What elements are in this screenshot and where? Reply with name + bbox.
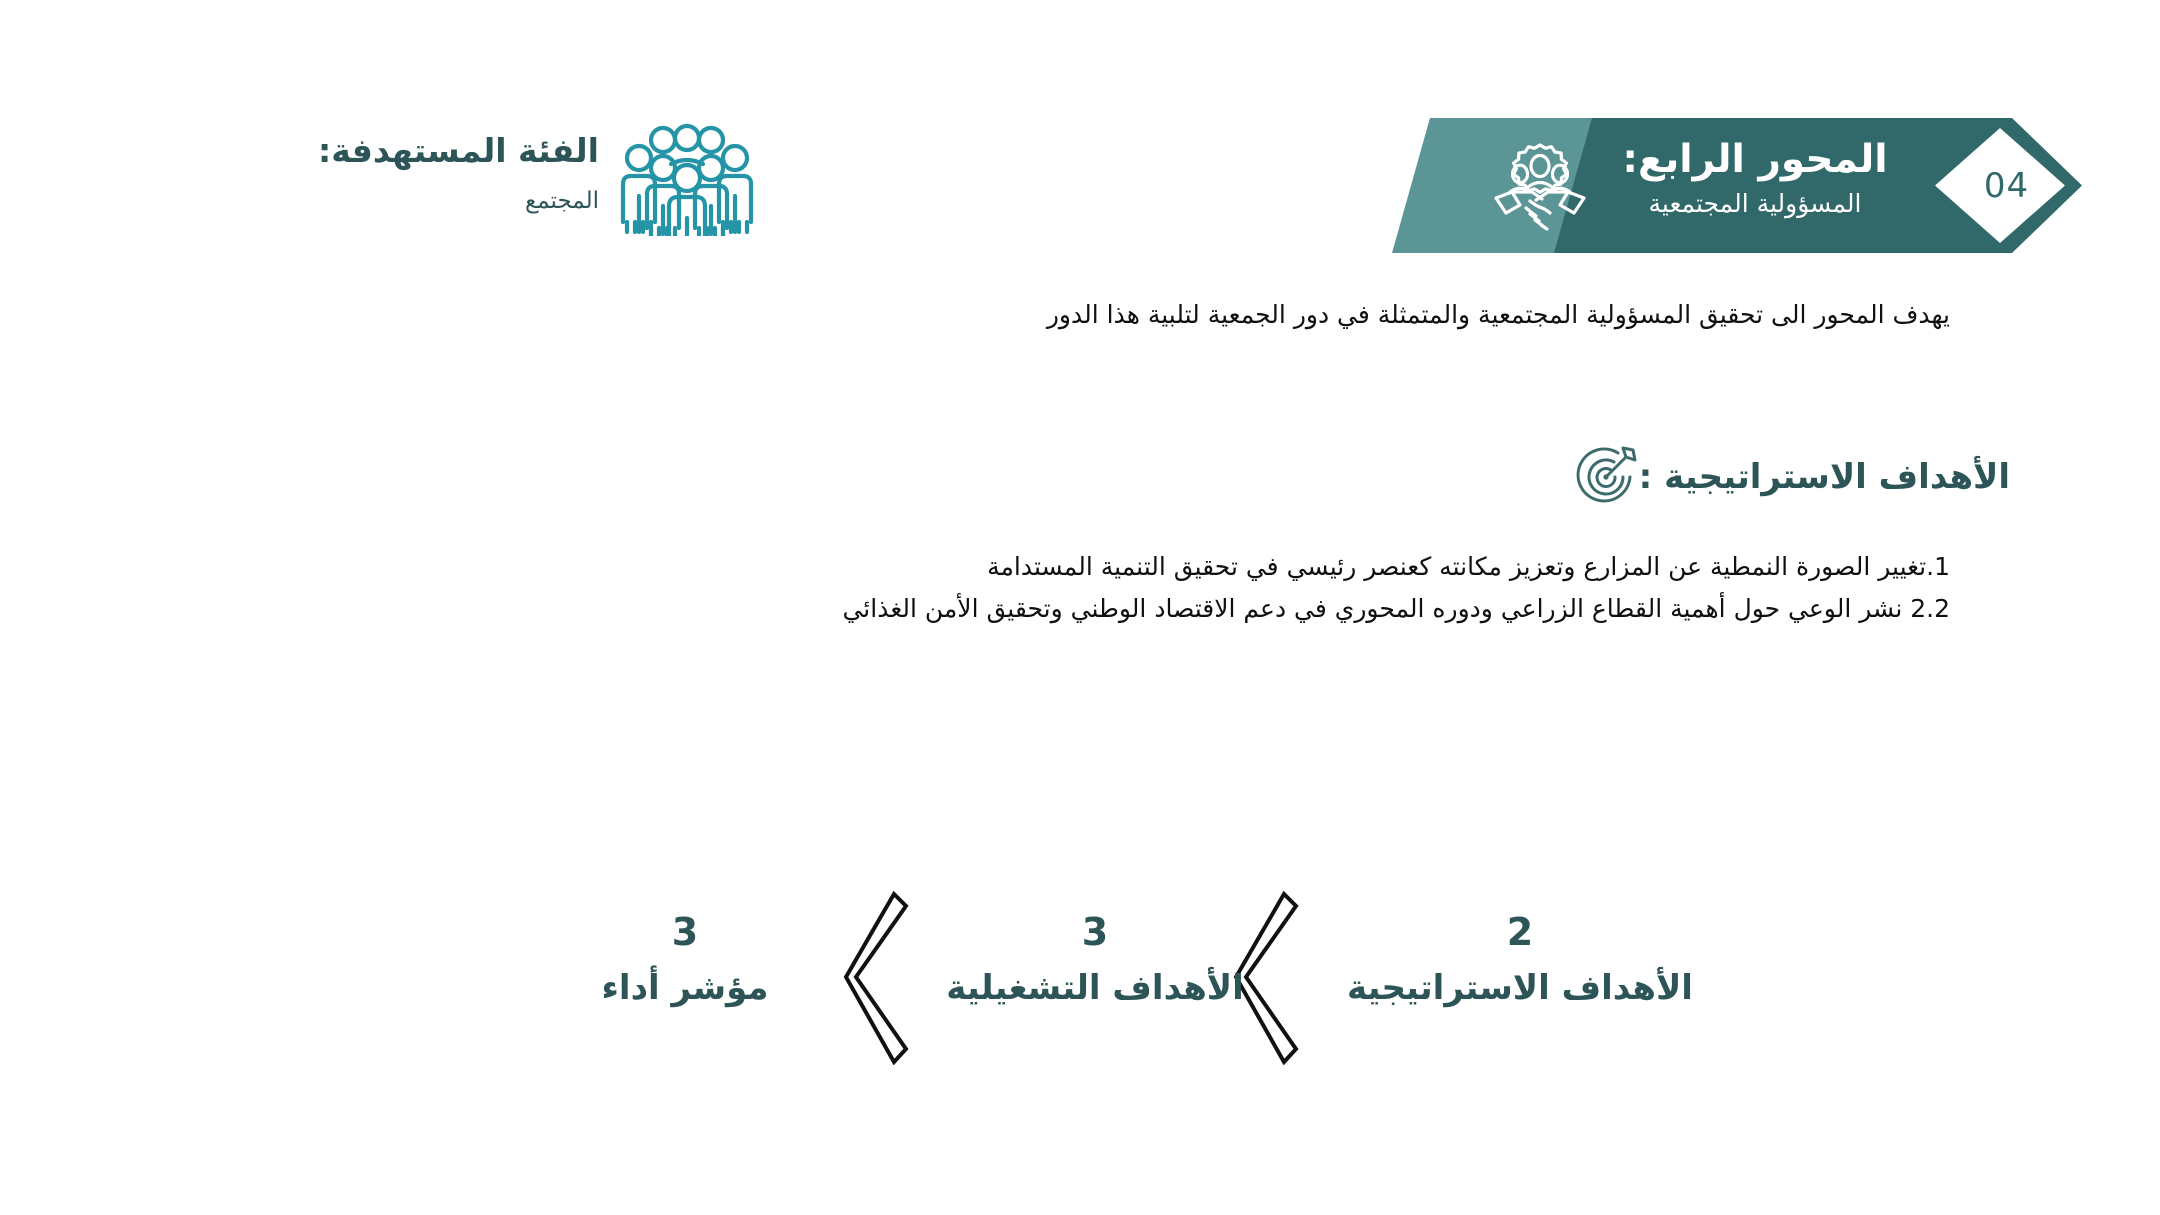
axis-banner: المحور الرابع: المسؤولية المجتمعية 04 [1392, 118, 2082, 253]
target-audience-title: الفئة المستهدفة: [254, 130, 599, 173]
strategic-goals-heading: الأهداف الاستراتيجية : [1569, 442, 2010, 512]
axis-banner-number: 04 [1939, 118, 2074, 253]
flow-step-label: الأهداف التشغيلية [920, 968, 1270, 1009]
axis-description: يهدف المحور الى تحقيق المسؤولية المجتمعي… [210, 296, 1950, 334]
flow-step-label: مؤشر أداء [530, 968, 840, 1009]
flow-step-strategic-goals: 2 الأهداف الاستراتيجية [1310, 912, 1730, 1009]
strategic-goals-title: الأهداف الاستراتيجية : [1639, 457, 2010, 498]
target-audience-block: الفئة المستهدفة: المجتمع [254, 112, 794, 242]
flow-step-operational-goals: 3 الأهداف التشغيلية [920, 912, 1270, 1009]
target-arrow-icon [1573, 444, 1639, 510]
flow-step-kpi: 3 مؤشر أداء [530, 912, 840, 1009]
group-of-people-icon [619, 114, 755, 236]
flow-step-count: 3 [920, 912, 1270, 954]
community-handshake-icon [1490, 138, 1590, 234]
flow-summary-row: 2 الأهداف الاستراتيجية 3 الأهداف التشغيل… [430, 890, 1730, 1070]
flow-step-count: 2 [1310, 912, 1730, 954]
axis-banner-title: المحور الرابع: [1600, 136, 1910, 184]
target-audience-value: المجتمع [254, 187, 599, 217]
goal-item: 1.تغيير الصورة النمطية عن المزارع وتعزيز… [210, 546, 1950, 588]
axis-banner-subtitle: المسؤولية المجتمعية [1600, 187, 1910, 221]
axis-banner-text: المحور الرابع: المسؤولية المجتمعية [1600, 136, 1910, 220]
goal-item: 2.2 نشر الوعي حول أهمية القطاع الزراعي و… [210, 588, 1950, 630]
flow-step-count: 3 [530, 912, 840, 954]
flow-step-label: الأهداف الاستراتيجية [1310, 968, 1730, 1009]
chevron-left-outline-icon [842, 890, 910, 1065]
target-audience-text: الفئة المستهدفة: المجتمع [254, 130, 599, 217]
strategic-goals-list: 1.تغيير الصورة النمطية عن المزارع وتعزيز… [210, 546, 1950, 630]
